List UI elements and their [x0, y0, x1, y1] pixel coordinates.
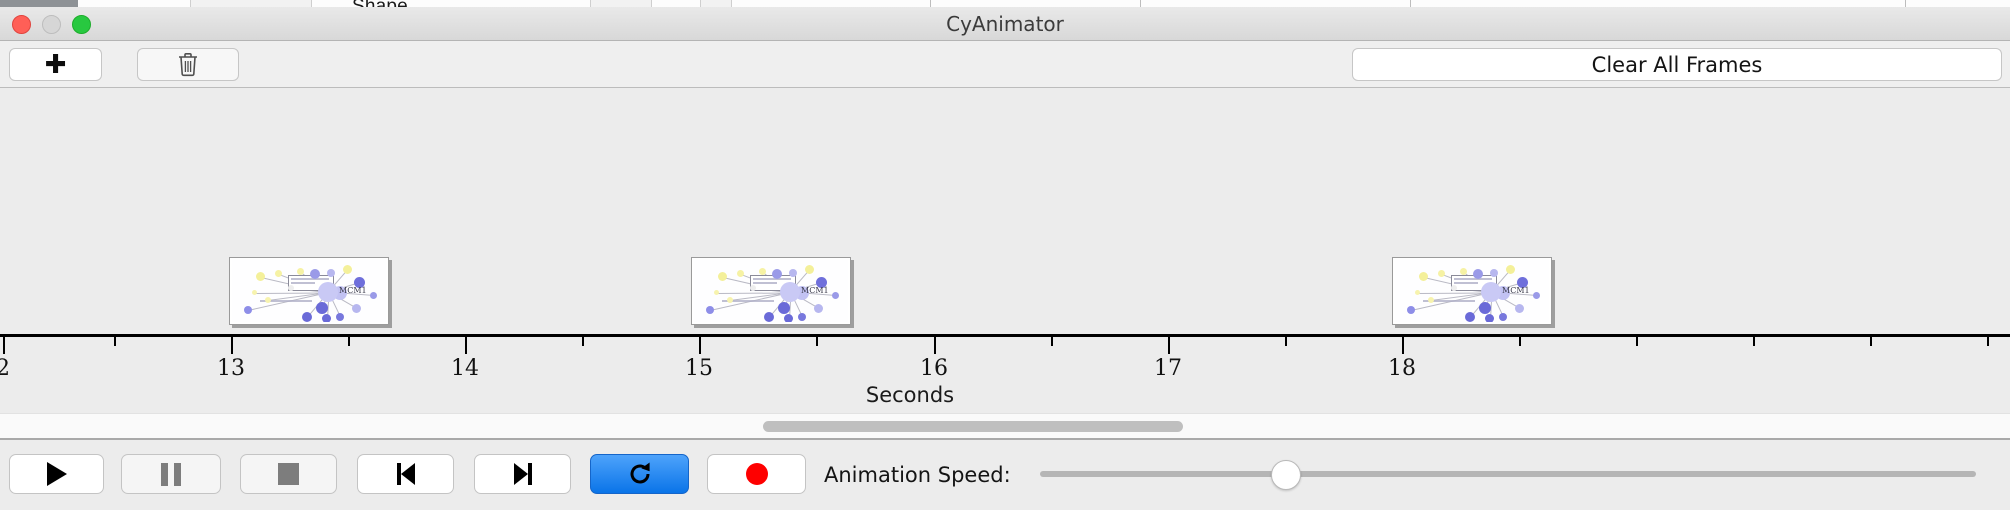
axis-tick-major: [1168, 337, 1170, 354]
axis-tick-minor: [1987, 337, 1989, 346]
playback-control-bar: Animation Speed:: [0, 438, 2010, 510]
play-icon: [47, 462, 67, 486]
network-node: [1465, 312, 1475, 322]
network-node: [316, 302, 328, 314]
play-button[interactable]: [9, 454, 104, 494]
network-node: [265, 297, 271, 303]
plus-icon: ✚: [45, 52, 67, 78]
add-frame-button[interactable]: ✚: [9, 48, 102, 81]
network-node: [297, 268, 304, 275]
network-node: [1481, 282, 1501, 302]
stop-button[interactable]: [240, 454, 337, 494]
network-node: [706, 306, 714, 314]
network-node: [718, 272, 727, 281]
axis-tick-minor: [1753, 337, 1755, 346]
network-callout-text: [753, 282, 777, 284]
network-node: [327, 269, 335, 277]
network-node: [275, 270, 282, 277]
network-node: [336, 313, 344, 321]
network-node: [750, 285, 756, 291]
axis-tick-label: 15: [685, 356, 713, 381]
axis-tick-minor: [1636, 337, 1638, 346]
network-node: [343, 265, 352, 274]
axis-tick-label: 18: [1388, 356, 1416, 381]
record-button[interactable]: [707, 454, 806, 494]
network-node: [784, 314, 793, 322]
title-bar: CyAnimator: [0, 7, 2010, 41]
axis-tick-label: 2: [0, 356, 10, 381]
axis-tick-minor: [582, 337, 584, 346]
network-hub-label: MCM1: [801, 286, 829, 295]
network-node: [256, 272, 265, 281]
network-node: [1533, 292, 1540, 299]
network-node: [1499, 313, 1507, 321]
axis-tick-minor: [348, 337, 350, 346]
network-node: [288, 285, 294, 291]
loop-icon: [626, 460, 654, 488]
loop-button[interactable]: [590, 454, 689, 494]
network-node: [832, 292, 839, 299]
network-node: [772, 269, 782, 279]
axis-title: Seconds: [0, 383, 1915, 407]
pause-icon: [161, 463, 181, 486]
network-node: [714, 290, 719, 295]
network-node: [1479, 302, 1491, 314]
network-edge: [255, 292, 329, 293]
axis-tick-minor: [816, 337, 818, 346]
network-node: [1419, 272, 1428, 281]
axis-tick-label: 16: [920, 356, 948, 381]
network-node: [1515, 304, 1524, 313]
network-edge: [717, 292, 791, 293]
timeline-frame-thumbnail[interactable]: MCM1: [691, 257, 851, 325]
network-node: [780, 282, 800, 302]
network-callout-text: [291, 278, 329, 280]
pause-button[interactable]: [121, 454, 221, 494]
network-node: [352, 304, 361, 313]
network-hub-label: MCM1: [1502, 286, 1530, 295]
skip-to-start-button[interactable]: [357, 454, 454, 494]
network-node: [322, 314, 331, 322]
network-preview: MCM1: [694, 260, 848, 322]
network-callout-text: [753, 278, 791, 280]
axis-tick-major: [231, 337, 233, 354]
clear-all-frames-button[interactable]: Clear All Frames: [1352, 48, 2002, 81]
timeline-axis: [0, 334, 2010, 337]
skip-to-end-button[interactable]: [474, 454, 571, 494]
axis-tick-minor: [114, 337, 116, 346]
axis-tick-minor: [1051, 337, 1053, 346]
animation-speed-slider-track[interactable]: [1040, 471, 1976, 477]
axis-tick-minor: [1870, 337, 1872, 346]
axis-tick-major: [934, 337, 936, 354]
axis-tick-major: [465, 337, 467, 354]
network-node: [318, 282, 338, 302]
axis-tick-label: 13: [217, 356, 245, 381]
network-node: [302, 312, 312, 322]
timeline-scrollbar-thumb[interactable]: [763, 421, 1183, 432]
axis-tick-label: 17: [1154, 356, 1182, 381]
network-node: [1506, 265, 1515, 274]
cyanimator-window: Shape CyAnimator ✚ Clear All Frames MCM1…: [0, 0, 2010, 510]
axis-tick-major: [699, 337, 701, 354]
stop-icon: [278, 463, 299, 485]
network-node: [1490, 269, 1498, 277]
network-node: [814, 304, 823, 313]
axis-tick-major: [1402, 337, 1404, 354]
timeline-panel[interactable]: MCM1MCM1MCM1 2131415161718 Seconds: [0, 88, 2010, 413]
network-node: [1460, 268, 1467, 275]
network-node: [252, 290, 257, 295]
network-node: [778, 302, 790, 314]
network-preview: MCM1: [232, 260, 386, 322]
network-node: [370, 292, 377, 299]
animation-speed-slider-thumb[interactable]: [1271, 460, 1301, 490]
network-node: [737, 270, 744, 277]
axis-tick-minor: [1519, 337, 1521, 346]
toolbar: ✚ Clear All Frames: [0, 41, 2010, 88]
trash-icon: [177, 52, 199, 77]
network-callout-text: [1454, 282, 1478, 284]
window-title: CyAnimator: [0, 7, 2010, 41]
network-node: [310, 269, 320, 279]
network-node: [1473, 269, 1483, 279]
network-node: [1407, 306, 1415, 314]
axis-tick-minor: [1285, 337, 1287, 346]
network-node: [798, 313, 806, 321]
network-node: [1485, 314, 1494, 322]
network-callout-text: [1454, 278, 1492, 280]
network-node: [1451, 285, 1457, 291]
skip-to-end-icon: [514, 463, 532, 485]
network-node: [805, 265, 814, 274]
network-node: [1428, 297, 1434, 303]
network-hub-label: MCM1: [339, 286, 367, 295]
network-edge: [1418, 292, 1492, 293]
record-icon: [746, 463, 768, 485]
delete-frame-button[interactable]: [137, 48, 239, 81]
network-node: [727, 297, 733, 303]
network-node: [759, 268, 766, 275]
timeline-frame-thumbnail[interactable]: MCM1: [1392, 257, 1552, 325]
network-node: [1438, 270, 1445, 277]
skip-to-start-icon: [397, 463, 415, 485]
animation-speed-label: Animation Speed:: [824, 463, 1011, 487]
network-preview: MCM1: [1395, 260, 1549, 322]
axis-tick-label: 14: [451, 356, 479, 381]
axis-tick-major: [3, 337, 5, 354]
network-node: [764, 312, 774, 322]
network-node: [244, 306, 252, 314]
clear-all-frames-label: Clear All Frames: [1592, 53, 1763, 77]
network-node: [1415, 290, 1420, 295]
timeline-frame-thumbnail[interactable]: MCM1: [229, 257, 389, 325]
network-callout-text: [291, 282, 315, 284]
network-node: [789, 269, 797, 277]
